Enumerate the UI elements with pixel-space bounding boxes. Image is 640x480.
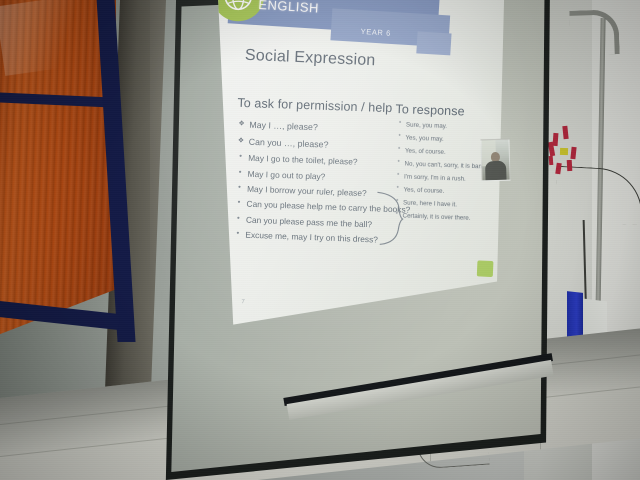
list-item: May I …, please? [238, 119, 408, 135]
sticky-note [567, 160, 573, 171]
list-item: Yes, of course. [395, 186, 499, 197]
list-item: May I go out to play? [236, 168, 406, 184]
sticky-note [549, 156, 554, 165]
handwritten-brace [374, 189, 406, 248]
slide-year-label: YEAR 6 [360, 27, 391, 38]
globe-icon [223, 0, 253, 11]
door-reflection [0, 0, 94, 76]
projected-slide: ENGLISH YEAR 6 Social Expression To ask … [212, 0, 508, 332]
classroom-photo-scene: ENGLISH YEAR 6 Social Expression To ask … [0, 0, 640, 480]
slide-page-number: 7 [241, 299, 245, 305]
slide-logo [477, 260, 494, 277]
column-heading-response: To response [395, 102, 465, 118]
webcam-person-body [485, 161, 506, 181]
slide-header-band-tertiary [416, 31, 451, 55]
sticky-note [553, 133, 559, 146]
list-item: Sure, you may. [398, 121, 502, 132]
list-item: Sure, here I have it. [395, 199, 499, 210]
list-item: Can you …, please? [238, 136, 408, 152]
wooden-door [0, 0, 116, 338]
column-heading-permission: To ask for permission / help [237, 96, 392, 115]
list-item: Certainly, it is over there. [394, 212, 498, 223]
sticky-note [560, 148, 568, 155]
slide-title: Social Expression [245, 47, 376, 70]
list-item: May I go to the toilet, please? [237, 152, 407, 168]
webcam-thumbnail [480, 139, 510, 182]
